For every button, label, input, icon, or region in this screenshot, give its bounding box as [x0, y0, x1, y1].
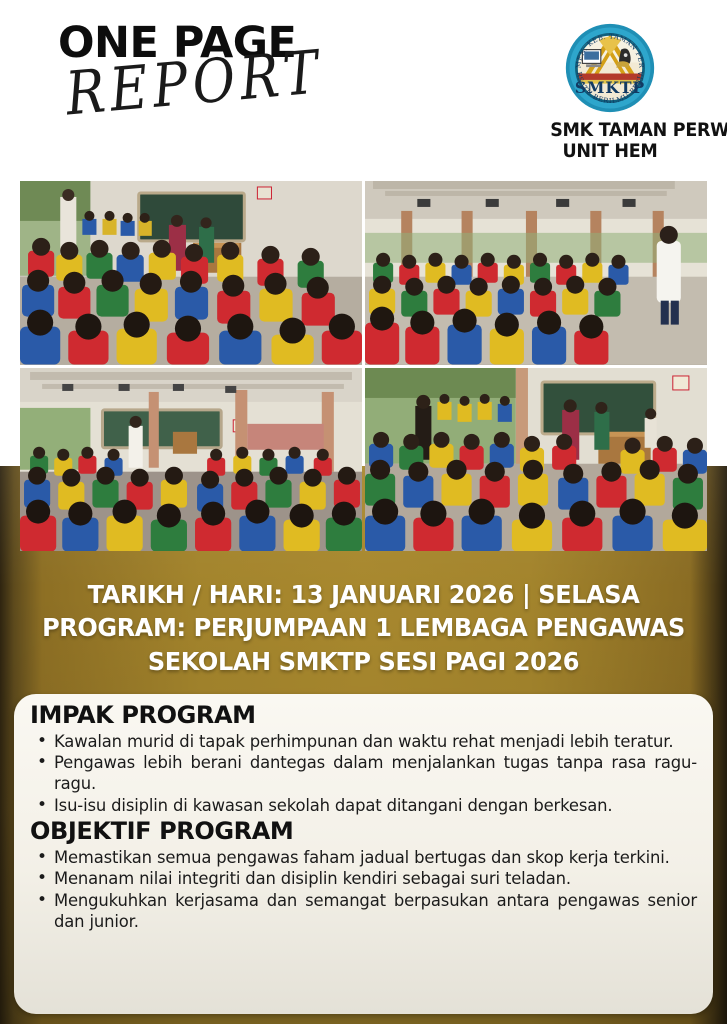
photo-assembly-hall-2: [365, 181, 707, 365]
content-card: IMPAK PROGRAM Kawalan murid di tapak per…: [14, 694, 713, 1014]
photo-grid: [20, 181, 707, 551]
impak-section-title: IMPAK PROGRAM: [30, 702, 697, 730]
poster-title-block: ONE PAGE REPORT: [58, 22, 358, 121]
poster-header: ONE PAGE REPORT: [0, 0, 727, 178]
school-identity-block: SMKTP SEK. MEN. KEB. TAMAN PERWIRA BERSA…: [545, 22, 675, 163]
one-page-report-poster: ONE PAGE REPORT: [0, 0, 727, 1024]
banner-program-line-2: SEKOLAH SMKTP SESI PAGI 2026: [15, 645, 713, 678]
school-name-line-1: SMK TAMAN PERWIRA: [550, 120, 670, 141]
list-item: Menanam nilai integriti dan disiplin ken…: [30, 868, 697, 889]
banner-date-line: TARIKH / HARI: 13 JANUARI 2026 | SELASA: [15, 578, 713, 611]
list-item: Memastikan semua pengawas faham jadual b…: [30, 847, 697, 868]
school-name: SMK TAMAN PERWIRA UNIT HEM: [550, 120, 670, 163]
list-item: Pengawas lebih berani dantegas dalam men…: [30, 752, 697, 795]
photo-assembly-hall-4: [365, 368, 707, 552]
banner-program-line-1: PROGRAM: PERJUMPAAN 1 LEMBAGA PENGAWAS: [15, 611, 713, 644]
photo-assembly-hall-3: [20, 368, 362, 552]
objektif-program-list: Memastikan semua pengawas faham jadual b…: [30, 847, 697, 932]
list-item: Isu-isu disiplin di kawasan sekolah dapa…: [30, 795, 697, 816]
school-crest-icon: SMKTP SEK. MEN. KEB. TAMAN PERWIRA BERSA…: [564, 22, 656, 114]
impak-program-list: Kawalan murid di tapak perhimpunan dan w…: [30, 731, 697, 816]
photo-assembly-hall-1: [20, 181, 362, 365]
school-name-line-2: UNIT HEM: [550, 141, 670, 162]
event-banner: TARIKH / HARI: 13 JANUARI 2026 | SELASA …: [15, 578, 713, 678]
list-item: Mengukuhkan kerjasama dan semangat berpa…: [30, 890, 697, 933]
list-item: Kawalan murid di tapak perhimpunan dan w…: [30, 731, 697, 752]
objektif-section-title: OBJEKTIF PROGRAM: [30, 818, 697, 846]
